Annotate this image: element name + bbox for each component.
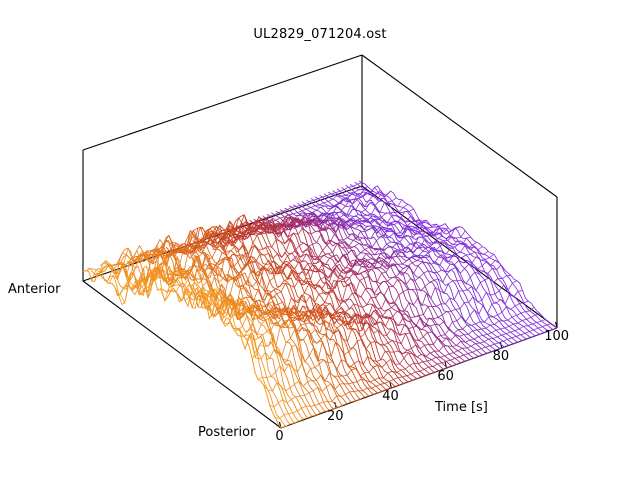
mesh-trace bbox=[521, 333, 525, 335]
mesh-trace bbox=[369, 191, 373, 192]
mesh-trace bbox=[451, 309, 455, 311]
mesh-trace bbox=[294, 280, 298, 287]
mesh-trace bbox=[270, 349, 274, 358]
mesh-trace bbox=[299, 311, 303, 312]
mesh-trace bbox=[426, 353, 430, 356]
mesh-trace bbox=[347, 370, 351, 376]
mesh-trace bbox=[317, 234, 321, 243]
mesh-trace bbox=[512, 336, 516, 337]
mesh-trace bbox=[276, 218, 280, 220]
mesh-trace bbox=[275, 286, 279, 289]
mesh-trace bbox=[342, 247, 346, 248]
mesh-trace bbox=[316, 279, 320, 285]
mesh-trace bbox=[451, 268, 455, 270]
mesh-trace bbox=[442, 236, 446, 239]
mesh-trace bbox=[451, 358, 455, 360]
mesh-trace bbox=[352, 329, 356, 330]
mesh-trace bbox=[322, 196, 326, 197]
mesh-trace bbox=[284, 364, 288, 372]
mesh-trace bbox=[416, 371, 420, 372]
mesh-trace bbox=[494, 278, 498, 282]
mesh-trace bbox=[453, 321, 457, 322]
mesh-trace bbox=[360, 373, 364, 376]
mesh-trace bbox=[271, 213, 469, 360]
mesh-trace bbox=[335, 306, 339, 311]
mesh-trace bbox=[360, 278, 364, 280]
mesh-trace bbox=[452, 345, 456, 346]
mesh-trace bbox=[524, 326, 528, 327]
mesh-trace bbox=[313, 387, 317, 391]
mesh-trace bbox=[492, 330, 496, 333]
mesh-trace bbox=[483, 334, 487, 335]
mesh-trace bbox=[422, 293, 426, 305]
mesh-trace bbox=[350, 272, 354, 277]
mesh-trace bbox=[350, 391, 354, 392]
mesh-trace bbox=[434, 317, 438, 319]
mesh-trace bbox=[343, 375, 347, 376]
mesh-trace bbox=[318, 342, 322, 361]
mesh-trace bbox=[387, 216, 391, 223]
mesh-trace bbox=[382, 363, 386, 368]
mesh-trace bbox=[381, 351, 385, 360]
mesh-trace bbox=[423, 332, 427, 337]
mesh-trace bbox=[357, 379, 361, 382]
mesh-trace bbox=[437, 304, 441, 307]
mesh-trace bbox=[309, 347, 313, 355]
mesh-trace bbox=[468, 352, 472, 354]
mesh-trace bbox=[460, 303, 464, 309]
mesh-trace bbox=[175, 272, 179, 273]
mesh-trace bbox=[328, 253, 332, 254]
mesh-trace bbox=[363, 244, 367, 245]
mesh-trace bbox=[534, 328, 538, 330]
mesh-trace bbox=[315, 265, 319, 270]
mesh-trace bbox=[279, 211, 283, 212]
mesh-trace bbox=[387, 242, 391, 244]
mesh-trace bbox=[260, 318, 264, 319]
mesh-trace bbox=[258, 335, 262, 338]
mesh-trace bbox=[414, 363, 418, 364]
mesh-trace bbox=[442, 312, 446, 315]
mesh-trace bbox=[298, 363, 302, 372]
mesh-trace bbox=[392, 244, 396, 248]
mesh-trace bbox=[497, 335, 501, 337]
mesh-trace bbox=[304, 284, 308, 293]
mesh-trace bbox=[366, 343, 370, 349]
mesh-trace bbox=[355, 243, 359, 246]
mesh-trace bbox=[356, 203, 360, 210]
mesh-trace bbox=[243, 316, 247, 327]
mesh-trace bbox=[301, 324, 305, 325]
mesh-trace bbox=[241, 336, 245, 349]
mesh-trace bbox=[290, 385, 294, 388]
mesh-trace bbox=[379, 282, 383, 287]
mesh-trace bbox=[486, 325, 490, 328]
mesh-trace bbox=[272, 240, 276, 248]
mesh-trace bbox=[399, 208, 403, 213]
mesh-trace bbox=[511, 306, 515, 309]
mesh-trace bbox=[485, 317, 489, 322]
mesh-trace bbox=[505, 295, 509, 305]
mesh-trace bbox=[502, 307, 506, 313]
mesh-trace bbox=[337, 325, 341, 328]
mesh-trace bbox=[381, 299, 385, 308]
mesh-trace bbox=[472, 257, 476, 263]
mesh-trace bbox=[311, 232, 315, 234]
mesh-trace bbox=[482, 292, 486, 300]
mesh-trace bbox=[410, 317, 414, 318]
mesh-trace bbox=[407, 349, 411, 351]
mesh-trace bbox=[449, 245, 453, 246]
mesh-trace bbox=[413, 298, 417, 305]
mesh-trace bbox=[298, 211, 302, 213]
mesh-trace bbox=[362, 305, 366, 308]
mesh-trace bbox=[300, 320, 304, 323]
mesh-trace bbox=[297, 408, 301, 411]
mesh-trace bbox=[302, 209, 306, 211]
mesh-trace bbox=[319, 293, 323, 294]
mesh-trace bbox=[374, 249, 378, 250]
mesh-trace bbox=[345, 309, 349, 312]
mesh-trace bbox=[273, 383, 277, 392]
mesh-trace bbox=[373, 365, 377, 367]
mesh-trace bbox=[442, 338, 446, 343]
mesh-trace bbox=[300, 395, 304, 396]
mesh-trace bbox=[430, 257, 434, 264]
mesh-trace bbox=[419, 315, 423, 316]
mesh-trace bbox=[369, 367, 373, 372]
mesh-trace bbox=[310, 406, 314, 407]
mesh-trace bbox=[302, 406, 306, 408]
time-tick-label: 0 bbox=[275, 429, 283, 444]
mesh-trace bbox=[331, 193, 335, 194]
mesh-trace bbox=[282, 343, 286, 357]
mesh-trace bbox=[311, 330, 315, 335]
mesh-trace bbox=[296, 396, 300, 397]
mesh-trace bbox=[198, 227, 202, 228]
mesh-trace bbox=[416, 317, 420, 325]
mesh-trace bbox=[376, 360, 380, 362]
mesh-trace bbox=[458, 348, 462, 350]
mesh-trace bbox=[305, 393, 309, 396]
mesh-trace bbox=[408, 222, 412, 226]
mesh-trace bbox=[393, 280, 397, 287]
waterfall-mesh bbox=[83, 181, 557, 428]
mesh-trace bbox=[410, 363, 414, 365]
mesh-trace bbox=[326, 304, 330, 307]
mesh-trace bbox=[457, 317, 461, 321]
mesh-trace bbox=[433, 338, 437, 344]
mesh-trace bbox=[314, 199, 318, 201]
mesh-trace bbox=[369, 195, 373, 201]
mesh-trace bbox=[411, 372, 415, 374]
mesh-trace bbox=[101, 261, 299, 421]
mesh-trace bbox=[287, 346, 291, 360]
mesh-trace bbox=[308, 263, 312, 264]
page-title: UL2829_071204.ost bbox=[0, 27, 640, 42]
mesh-trace bbox=[532, 323, 536, 324]
mesh-trace bbox=[512, 315, 516, 317]
mesh-trace bbox=[428, 227, 432, 228]
mesh-trace bbox=[461, 246, 465, 253]
mesh-trace bbox=[351, 369, 355, 370]
mesh-trace bbox=[488, 304, 492, 313]
mesh-trace bbox=[508, 338, 512, 340]
mesh-trace bbox=[529, 330, 533, 332]
mesh-trace bbox=[404, 266, 408, 269]
mesh-trace bbox=[384, 343, 388, 345]
mesh-trace bbox=[277, 292, 281, 294]
mesh-trace bbox=[384, 287, 388, 296]
mesh-trace bbox=[344, 187, 348, 189]
mesh-trace bbox=[398, 377, 402, 378]
mesh-trace bbox=[496, 329, 500, 330]
mesh-trace bbox=[284, 414, 288, 415]
mesh-trace bbox=[278, 302, 282, 304]
mesh-trace bbox=[280, 415, 284, 418]
mesh-trace bbox=[438, 236, 442, 239]
mesh-trace bbox=[515, 329, 519, 331]
mesh-trace bbox=[356, 369, 360, 376]
mesh-trace bbox=[487, 262, 491, 265]
mesh-trace bbox=[398, 200, 402, 207]
mesh-trace bbox=[252, 282, 256, 287]
mesh-trace bbox=[472, 350, 476, 352]
plot-figure: UL2829_071204.ost Anterior Posterior Tim… bbox=[0, 0, 640, 480]
mesh-trace bbox=[341, 394, 345, 396]
mesh-trace bbox=[495, 321, 499, 325]
mesh-trace bbox=[471, 344, 475, 347]
mesh-trace bbox=[321, 277, 325, 279]
mesh-trace bbox=[434, 279, 438, 280]
mesh-trace bbox=[364, 226, 368, 229]
mesh-trace bbox=[283, 270, 287, 279]
mesh-trace bbox=[437, 363, 441, 364]
mesh-trace bbox=[173, 257, 177, 283]
mesh-trace bbox=[274, 403, 278, 408]
mesh-trace bbox=[293, 213, 297, 214]
mesh-trace bbox=[432, 357, 436, 360]
mesh-trace bbox=[280, 217, 284, 218]
mesh-trace bbox=[184, 279, 188, 287]
mesh-trace bbox=[386, 359, 390, 362]
mesh-trace bbox=[401, 334, 405, 344]
mesh-trace bbox=[422, 232, 426, 235]
mesh-trace bbox=[409, 209, 413, 212]
mesh-trace bbox=[281, 310, 285, 311]
mesh-trace bbox=[462, 255, 466, 258]
mesh-trace bbox=[394, 378, 398, 380]
mesh-trace bbox=[287, 207, 291, 209]
mesh-trace bbox=[470, 310, 474, 315]
mesh-trace bbox=[371, 207, 375, 215]
mesh-trace bbox=[395, 295, 399, 303]
mesh-trace bbox=[361, 289, 365, 297]
mesh-trace bbox=[439, 346, 443, 351]
mesh-trace bbox=[519, 326, 523, 329]
mesh-trace bbox=[508, 283, 512, 290]
mesh-trace bbox=[273, 254, 277, 259]
mesh-trace bbox=[370, 380, 374, 382]
mesh-trace bbox=[401, 369, 405, 370]
mesh-trace bbox=[410, 333, 414, 340]
mesh-trace bbox=[412, 261, 416, 263]
mesh-trace bbox=[234, 262, 238, 267]
mesh-trace bbox=[446, 360, 450, 361]
mesh-trace bbox=[302, 363, 306, 376]
mesh-trace bbox=[403, 204, 407, 207]
mesh-trace bbox=[386, 213, 390, 214]
mesh-trace bbox=[371, 342, 375, 343]
mesh-trace bbox=[514, 291, 518, 296]
mesh-trace bbox=[402, 376, 406, 377]
mesh-trace bbox=[437, 251, 441, 252]
mesh-trace bbox=[430, 351, 434, 353]
time-tick-label: 40 bbox=[382, 389, 399, 404]
mesh-trace bbox=[294, 381, 298, 384]
mesh-trace bbox=[482, 328, 486, 329]
mesh-trace bbox=[382, 213, 386, 217]
mesh-trace bbox=[165, 287, 169, 301]
mesh-trace bbox=[296, 205, 300, 206]
time-tick-label: 80 bbox=[493, 349, 510, 364]
mesh-trace bbox=[460, 269, 464, 274]
mesh-trace bbox=[471, 252, 475, 254]
mesh-trace bbox=[465, 264, 469, 268]
mesh-trace bbox=[392, 198, 396, 201]
mesh-trace bbox=[445, 354, 449, 356]
mesh-trace bbox=[308, 381, 312, 382]
mesh-trace bbox=[456, 237, 460, 238]
mesh-trace bbox=[292, 346, 296, 347]
mesh-trace bbox=[306, 296, 310, 303]
mesh-trace bbox=[470, 272, 474, 277]
mesh-trace bbox=[267, 376, 271, 377]
mesh-trace bbox=[429, 243, 433, 244]
mesh-trace bbox=[198, 250, 202, 253]
mesh-trace bbox=[308, 221, 312, 222]
mesh-trace bbox=[467, 287, 471, 290]
mesh-trace bbox=[340, 242, 344, 243]
mesh-trace bbox=[466, 254, 470, 255]
mesh-trace bbox=[340, 255, 344, 260]
mesh-trace bbox=[480, 280, 484, 282]
mesh-trace bbox=[420, 345, 424, 348]
mesh-trace bbox=[464, 354, 468, 355]
mesh-trace bbox=[305, 202, 309, 204]
mesh-trace bbox=[498, 312, 502, 315]
mesh-trace bbox=[469, 297, 473, 303]
mesh-trace bbox=[316, 375, 320, 380]
mesh-trace bbox=[517, 313, 521, 315]
mesh-trace bbox=[407, 374, 411, 375]
time-tick-label: 60 bbox=[437, 369, 454, 384]
mesh-trace bbox=[333, 362, 337, 370]
mesh-trace bbox=[375, 378, 379, 380]
mesh-trace bbox=[403, 350, 407, 354]
mesh-trace bbox=[485, 258, 489, 260]
mesh-trace bbox=[321, 206, 325, 207]
mesh-trace bbox=[396, 304, 400, 311]
mesh-trace bbox=[454, 261, 458, 265]
mesh-trace bbox=[332, 396, 336, 402]
mesh-trace bbox=[525, 332, 529, 334]
mesh-trace bbox=[415, 277, 419, 280]
mesh-trace bbox=[312, 263, 316, 264]
time-tick-label: 100 bbox=[544, 329, 569, 344]
mesh-trace bbox=[425, 344, 429, 345]
axis-label-time: Time [s] bbox=[435, 400, 488, 415]
mesh-trace bbox=[477, 301, 481, 302]
mesh-trace bbox=[450, 247, 454, 248]
mesh-trace bbox=[511, 331, 515, 333]
mesh-trace bbox=[353, 184, 357, 186]
mesh-trace bbox=[374, 330, 378, 333]
mesh-trace bbox=[276, 327, 280, 346]
mesh-trace bbox=[478, 335, 482, 336]
mesh-trace bbox=[212, 249, 216, 258]
mesh-trace bbox=[424, 367, 428, 369]
mesh-trace bbox=[258, 377, 262, 379]
mesh-trace bbox=[323, 245, 327, 250]
mesh-trace bbox=[305, 355, 309, 362]
mesh-trace bbox=[465, 340, 469, 342]
mesh-trace bbox=[458, 329, 462, 330]
plot-canvas bbox=[0, 0, 640, 480]
mesh-trace bbox=[387, 278, 391, 281]
mesh-trace bbox=[414, 266, 418, 274]
mesh-trace bbox=[374, 287, 378, 294]
mesh-trace bbox=[541, 320, 545, 322]
mesh-trace bbox=[348, 293, 352, 299]
mesh-trace bbox=[360, 250, 364, 253]
mesh-trace bbox=[309, 391, 313, 393]
mesh-trace bbox=[376, 292, 380, 298]
mesh-trace bbox=[503, 320, 507, 321]
mesh-trace bbox=[315, 205, 319, 206]
mesh-trace bbox=[433, 364, 437, 367]
mesh-trace bbox=[488, 268, 492, 273]
mesh-trace bbox=[518, 291, 522, 292]
mesh-trace bbox=[345, 278, 349, 283]
mesh-trace bbox=[284, 231, 288, 238]
mesh-trace bbox=[271, 372, 275, 376]
mesh-trace bbox=[224, 323, 228, 324]
mesh-trace bbox=[437, 270, 441, 272]
mesh-trace bbox=[288, 413, 292, 414]
mesh-trace bbox=[332, 220, 336, 221]
mesh-trace bbox=[481, 260, 485, 261]
mesh-trace bbox=[466, 315, 470, 321]
mesh-trace bbox=[509, 324, 513, 326]
mesh-trace bbox=[400, 252, 404, 253]
mesh-trace bbox=[363, 388, 367, 391]
mesh-trace bbox=[483, 306, 487, 314]
mesh-trace bbox=[403, 289, 407, 292]
mesh-trace bbox=[388, 201, 392, 203]
mesh-trace bbox=[400, 358, 404, 364]
mesh-trace bbox=[345, 392, 349, 395]
mesh-trace bbox=[409, 327, 413, 328]
mesh-trace bbox=[328, 362, 332, 363]
mesh-trace bbox=[238, 274, 242, 275]
mesh-trace bbox=[431, 324, 435, 326]
mesh-trace bbox=[531, 315, 535, 317]
mesh-trace bbox=[522, 319, 526, 320]
mesh-trace bbox=[418, 251, 422, 255]
mesh-trace bbox=[457, 341, 461, 345]
mesh-trace bbox=[324, 401, 328, 402]
